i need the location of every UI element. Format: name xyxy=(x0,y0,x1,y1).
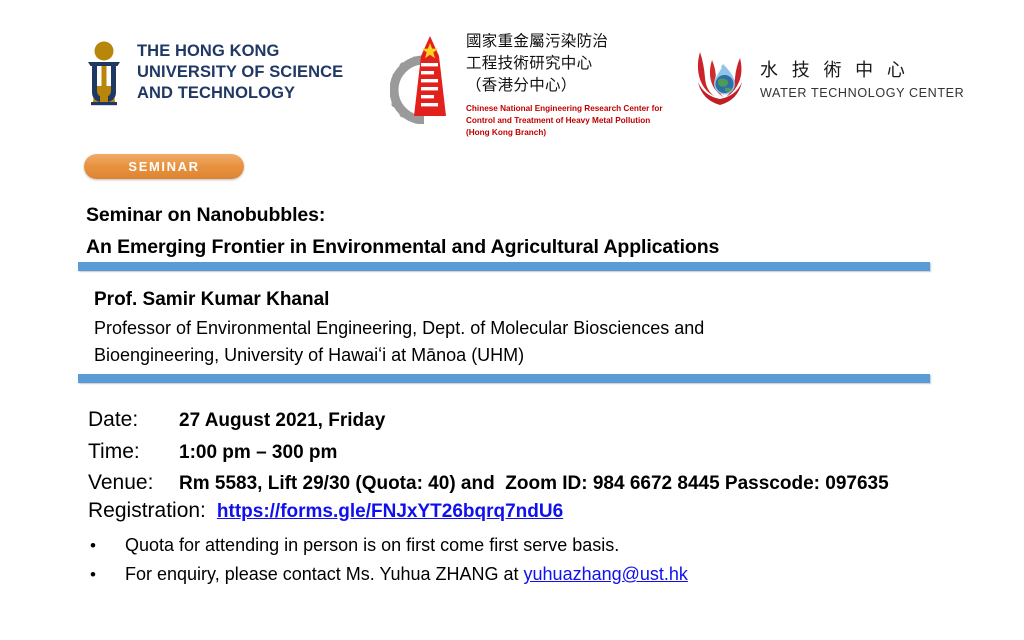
note-text-enquiry: For enquiry, please contact Ms. Yuhua ZH… xyxy=(125,560,688,589)
speaker-affiliation-line-1: Professor of Environmental Engineering, … xyxy=(94,315,954,342)
title-line-1: Seminar on Nanobubbles: xyxy=(86,200,966,232)
cnerc-gear-tower-icon xyxy=(390,30,456,124)
hkust-logo: THE HONG KONGUNIVERSITY OF SCIENCEAND TE… xyxy=(82,40,343,106)
wtc-chinese-name: 水 技 術 中 心 xyxy=(760,56,964,82)
seminar-badge-label: SEMINAR xyxy=(128,159,199,174)
list-item: • Quota for attending in person is on fi… xyxy=(88,531,988,560)
divider-bottom xyxy=(78,374,930,383)
speaker-name: Prof. Samir Kumar Khanal xyxy=(94,286,954,315)
registration-row: Registration: https://forms.gle/FNJxYT26… xyxy=(88,499,563,523)
speaker-affiliation-line-2: Bioengineering, University of Hawaiʻi at… xyxy=(94,342,954,369)
event-details: Date: 27 August 2021, Friday Time: 1:00 … xyxy=(88,404,889,499)
detail-row-time: Time: 1:00 pm – 300 pm xyxy=(88,436,889,468)
cnerc-chinese-name: 國家重金屬污染防治 工程技術研究中心 （香港分中心） xyxy=(466,30,663,96)
hkust-wordmark: THE HONG KONGUNIVERSITY OF SCIENCEAND TE… xyxy=(137,40,343,104)
date-label: Date: xyxy=(88,404,179,436)
date-value: 27 August 2021, Friday xyxy=(179,407,385,436)
time-value: 1:00 pm – 300 pm xyxy=(179,439,337,468)
seminar-title: Seminar on Nanobubbles: An Emerging Fron… xyxy=(86,200,966,263)
hkust-line-2: UNIVERSITY OF SCIENCE xyxy=(137,63,343,81)
contact-email-link[interactable]: yuhuazhang@ust.hk xyxy=(524,564,688,584)
registration-label: Registration: xyxy=(88,499,206,523)
logo-bar: THE HONG KONGUNIVERSITY OF SCIENCEAND TE… xyxy=(0,26,1024,150)
note-enquiry-prefix: For enquiry, please contact Ms. Yuhua ZH… xyxy=(125,564,524,584)
cnerc-logo: 國家重金屬污染防治 工程技術研究中心 （香港分中心） Chinese Natio… xyxy=(390,30,663,139)
cnerc-english-name: Chinese National Engineering Research Ce… xyxy=(466,103,663,139)
note-text-quota: Quota for attending in person is on firs… xyxy=(125,531,619,560)
hkust-line-1: THE HONG KONG xyxy=(137,42,279,60)
time-label: Time: xyxy=(88,436,179,468)
water-technology-center-logo: 水 技 術 中 心 WATER TECHNOLOGY CENTER xyxy=(692,48,964,108)
bullet-icon: • xyxy=(88,532,125,560)
bullet-icon: • xyxy=(88,561,125,589)
list-item: • For enquiry, please contact Ms. Yuhua … xyxy=(88,560,988,589)
hkust-line-3: AND TECHNOLOGY xyxy=(137,84,295,102)
notes-list: • Quota for attending in person is on fi… xyxy=(88,531,988,589)
hkust-emblem-icon xyxy=(82,40,126,106)
detail-row-date: Date: 27 August 2021, Friday xyxy=(88,404,889,436)
venue-value: Rm 5583, Lift 29/30 (Quota: 40) and Zoom… xyxy=(179,470,889,499)
seminar-badge: SEMINAR xyxy=(84,154,244,179)
registration-link[interactable]: https://forms.gle/FNJxYT26bqrq7ndU6 xyxy=(217,501,563,523)
venue-label: Venue: xyxy=(88,467,179,499)
detail-row-venue: Venue: Rm 5583, Lift 29/30 (Quota: 40) a… xyxy=(88,467,889,499)
speaker-info: Prof. Samir Kumar Khanal Professor of En… xyxy=(94,286,954,370)
wtc-english-name: WATER TECHNOLOGY CENTER xyxy=(760,86,964,100)
title-line-2: An Emerging Frontier in Environmental an… xyxy=(86,232,966,264)
divider-top xyxy=(78,262,930,271)
flame-droplet-icon xyxy=(692,48,748,108)
